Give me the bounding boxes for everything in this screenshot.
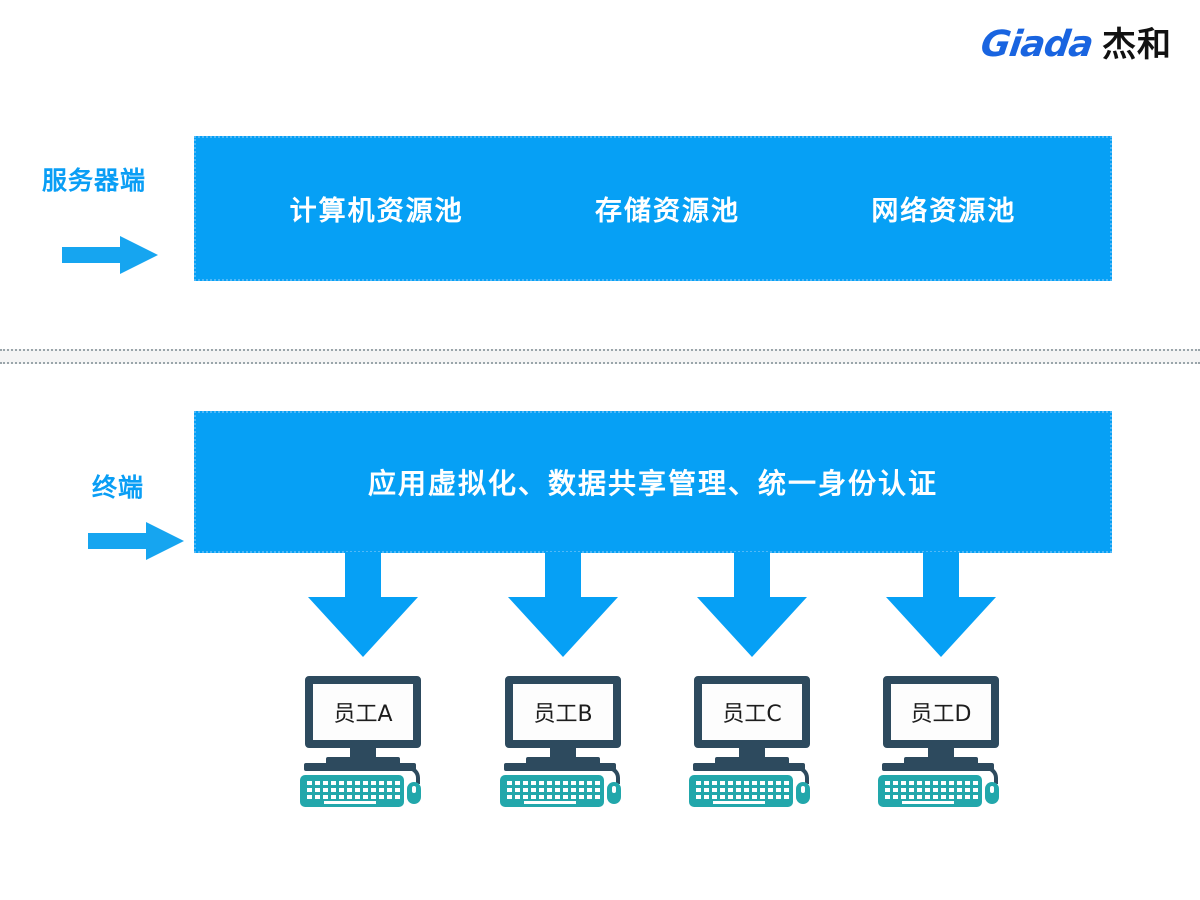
workstation-label: 员工C [722, 696, 781, 728]
brand-logo: Giada 杰和 [981, 22, 1172, 68]
keyboard-row [696, 795, 789, 799]
resource-pool-storage: 存储资源池 [595, 189, 740, 228]
arrow-down-icon-1 [308, 552, 418, 660]
keyboard-row [307, 795, 400, 799]
arrow-head [308, 597, 418, 657]
mouse-icon [407, 782, 421, 804]
arrow-head [886, 597, 996, 657]
keyboard-spacebar [524, 801, 576, 804]
arrow-head [120, 236, 158, 274]
workstation-4[interactable]: 员工D [876, 676, 1006, 808]
arrow-shaft [88, 533, 150, 549]
resource-pool-network: 网络资源池 [871, 189, 1016, 228]
keyboard-row [507, 781, 600, 785]
arrow-stem [345, 552, 381, 600]
monitor-icon: 员工A [305, 676, 421, 748]
keyboard-row [507, 795, 600, 799]
arrow-right-icon-terminal [88, 522, 184, 560]
keyboard-icon [300, 775, 404, 807]
resource-pool-compute: 计算机资源池 [290, 189, 464, 228]
arrow-head [697, 597, 807, 657]
arrow-head [146, 522, 184, 560]
keyboard-icon [878, 775, 982, 807]
terminal-section-label: 终端 [92, 468, 144, 504]
arrow-shaft [62, 247, 124, 263]
arrow-down-icon-4 [886, 552, 996, 660]
monitor-icon: 员工B [505, 676, 621, 748]
keyboard-row [885, 781, 978, 785]
workstation-label: 员工B [533, 696, 592, 728]
keyboard-row [885, 788, 978, 792]
server-resource-pool-panel: 计算机资源池 存储资源池 网络资源池 [194, 136, 1112, 281]
arrow-stem [923, 552, 959, 600]
arrow-right-icon-server [62, 236, 158, 274]
workstation-1[interactable]: 员工A [298, 676, 428, 808]
terminal-services-panel: 应用虚拟化、数据共享管理、统一身份认证 [194, 411, 1112, 553]
terminal-services-text: 应用虚拟化、数据共享管理、统一身份认证 [368, 462, 938, 502]
keyboard-row [507, 788, 600, 792]
keyboard-row [307, 788, 400, 792]
server-section-label: 服务器端 [42, 161, 146, 197]
arrow-head [508, 597, 618, 657]
arrow-down-icon-2 [508, 552, 618, 660]
arrow-stem [545, 552, 581, 600]
workstation-2[interactable]: 员工B [498, 676, 628, 808]
keyboard-spacebar [324, 801, 376, 804]
arrow-stem [734, 552, 770, 600]
logo-wordmark: Giada [978, 27, 1094, 63]
keyboard-spacebar [902, 801, 954, 804]
mouse-icon [607, 782, 621, 804]
keyboard-spacebar [713, 801, 765, 804]
mouse-icon [796, 782, 810, 804]
keyboard-row [307, 781, 400, 785]
keyboard-row [696, 788, 789, 792]
keyboard-icon [500, 775, 604, 807]
arrow-down-icon-3 [697, 552, 807, 660]
monitor-icon: 员工D [883, 676, 999, 748]
keyboard-icon [689, 775, 793, 807]
keyboard-row [696, 781, 789, 785]
keyboard-row [885, 795, 978, 799]
section-divider [0, 349, 1200, 364]
logo-chinese-name: 杰和 [1102, 28, 1172, 62]
monitor-icon: 员工C [694, 676, 810, 748]
workstation-3[interactable]: 员工C [687, 676, 817, 808]
workstation-label: 员工A [333, 696, 392, 728]
mouse-icon [985, 782, 999, 804]
workstation-label: 员工D [911, 696, 972, 728]
